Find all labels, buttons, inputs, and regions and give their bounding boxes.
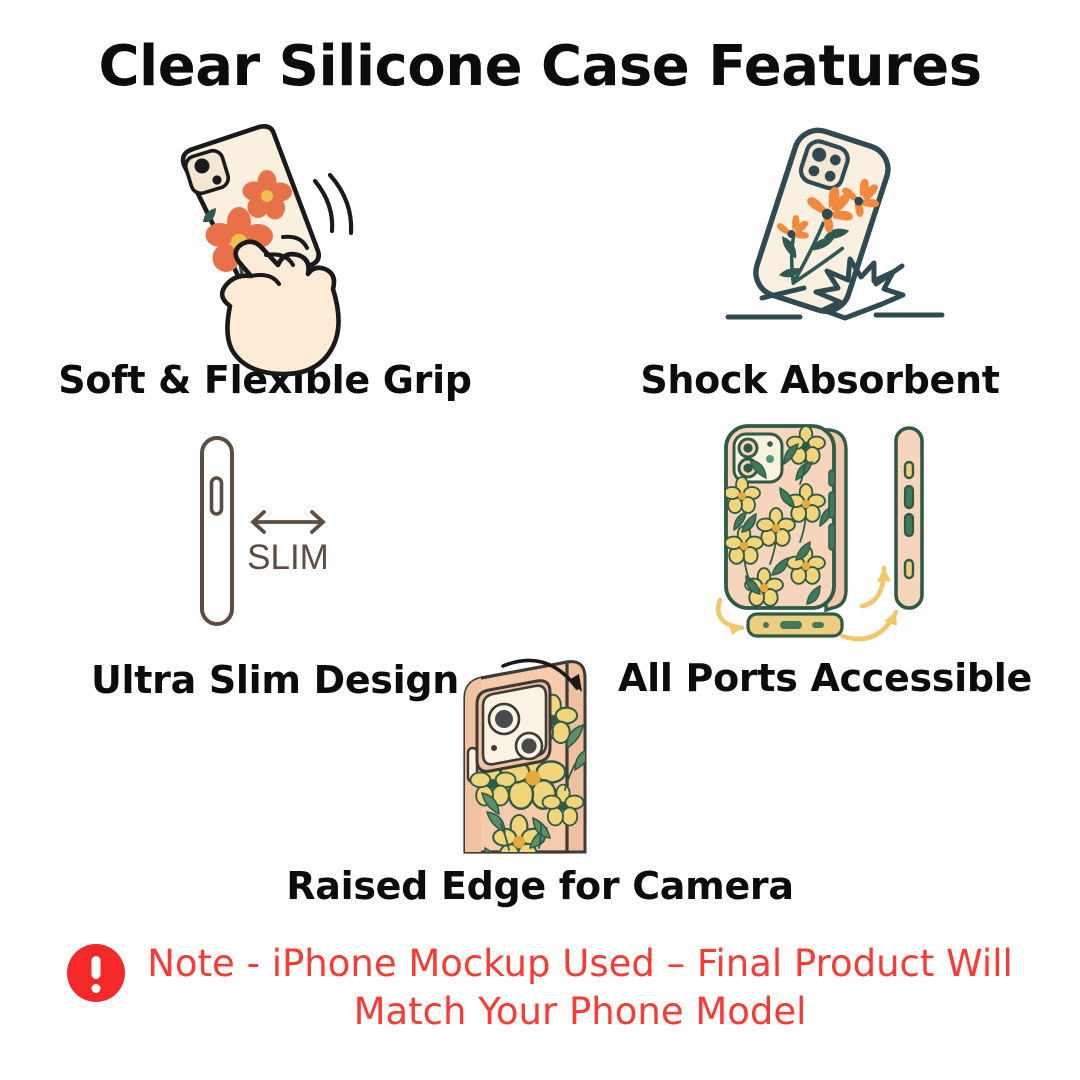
feature-shock-absorbent: Shock Absorbent [570, 112, 1070, 402]
phone-drop-impact-icon [570, 112, 1070, 340]
feature-soft-flexible-grip: Soft & Flexible Grip [10, 118, 520, 402]
note-line-2: Match Your Phone Model [147, 988, 1013, 1036]
phone-raised-camera-bezel-icon [280, 652, 800, 852]
feature-raised-edge-camera: Raised Edge for Camera [280, 652, 800, 908]
phone-ports-cutouts-icon [580, 418, 1070, 640]
slim-annotation-text: SLIM [247, 538, 329, 577]
page-title: Clear Silicone Case Features [0, 34, 1080, 99]
feature-label: Raised Edge for Camera [280, 864, 800, 908]
exclamation-circle-icon [67, 944, 125, 1002]
phone-side-profile-slim-icon: SLIM [30, 424, 520, 636]
infographic-page: Clear Silicone Case Features [0, 0, 1080, 1080]
note-text: Note - iPhone Mockup Used – Final Produc… [147, 940, 1013, 1036]
mockup-disclaimer-note: Note - iPhone Mockup Used – Final Produc… [0, 940, 1080, 1036]
feature-label: Shock Absorbent [570, 358, 1070, 402]
note-line-1: Note - iPhone Mockup Used – Final Produc… [147, 942, 1013, 985]
hand-flexing-phone-case-icon [10, 118, 520, 346]
